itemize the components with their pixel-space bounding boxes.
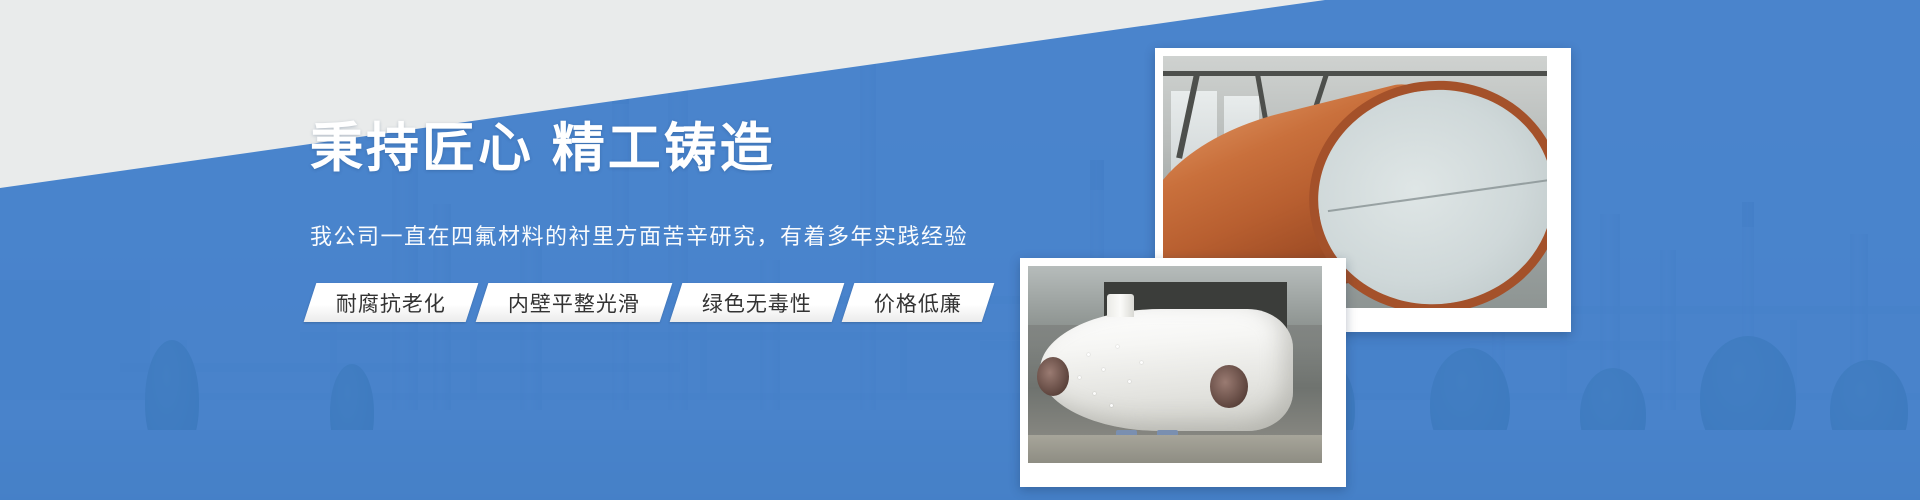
banner-subtitle: 我公司一直在四氟材料的衬里方面苦辛研究，有着多年实践经验 bbox=[310, 222, 968, 252]
feature-tag-label: 内壁平整光滑 bbox=[508, 288, 640, 318]
feature-tag-label: 绿色无毒性 bbox=[702, 288, 812, 318]
ceiling-beam bbox=[1163, 71, 1547, 76]
banner-headline: 秉持匠心 精工铸造 bbox=[310, 118, 776, 180]
banner-content: 秉持匠心 精工铸造 我公司一直在四氟材料的衬里方面苦辛研究，有着多年实践经验 耐… bbox=[0, 0, 1920, 500]
vessel-side-nozzle bbox=[1210, 365, 1248, 408]
feature-tag-corrosion-resistant[interactable]: 耐腐抗老化 bbox=[304, 283, 479, 322]
feature-tag-list: 耐腐抗老化 内壁平整光滑 绿色无毒性 价格低廉 bbox=[310, 283, 988, 322]
feature-tag-non-toxic[interactable]: 绿色无毒性 bbox=[670, 283, 845, 322]
vessel-shell bbox=[1040, 309, 1293, 431]
feature-tag-smooth-inner-wall[interactable]: 内壁平整光滑 bbox=[476, 283, 673, 322]
product-photo-card-vessel[interactable] bbox=[1020, 258, 1346, 487]
vessel-top-nozzle bbox=[1107, 294, 1133, 318]
white-lined-vessel-photo bbox=[1028, 266, 1322, 463]
feature-tag-label: 价格低廉 bbox=[874, 288, 962, 318]
vessel-side-nozzle bbox=[1037, 357, 1069, 396]
vessel-ground bbox=[1028, 435, 1322, 463]
feature-tag-label: 耐腐抗老化 bbox=[336, 288, 446, 318]
hero-banner: 秉持匠心 精工铸造 我公司一直在四氟材料的衬里方面苦辛研究，有着多年实践经验 耐… bbox=[0, 0, 1920, 500]
feature-tag-low-price[interactable]: 价格低廉 bbox=[842, 283, 995, 322]
